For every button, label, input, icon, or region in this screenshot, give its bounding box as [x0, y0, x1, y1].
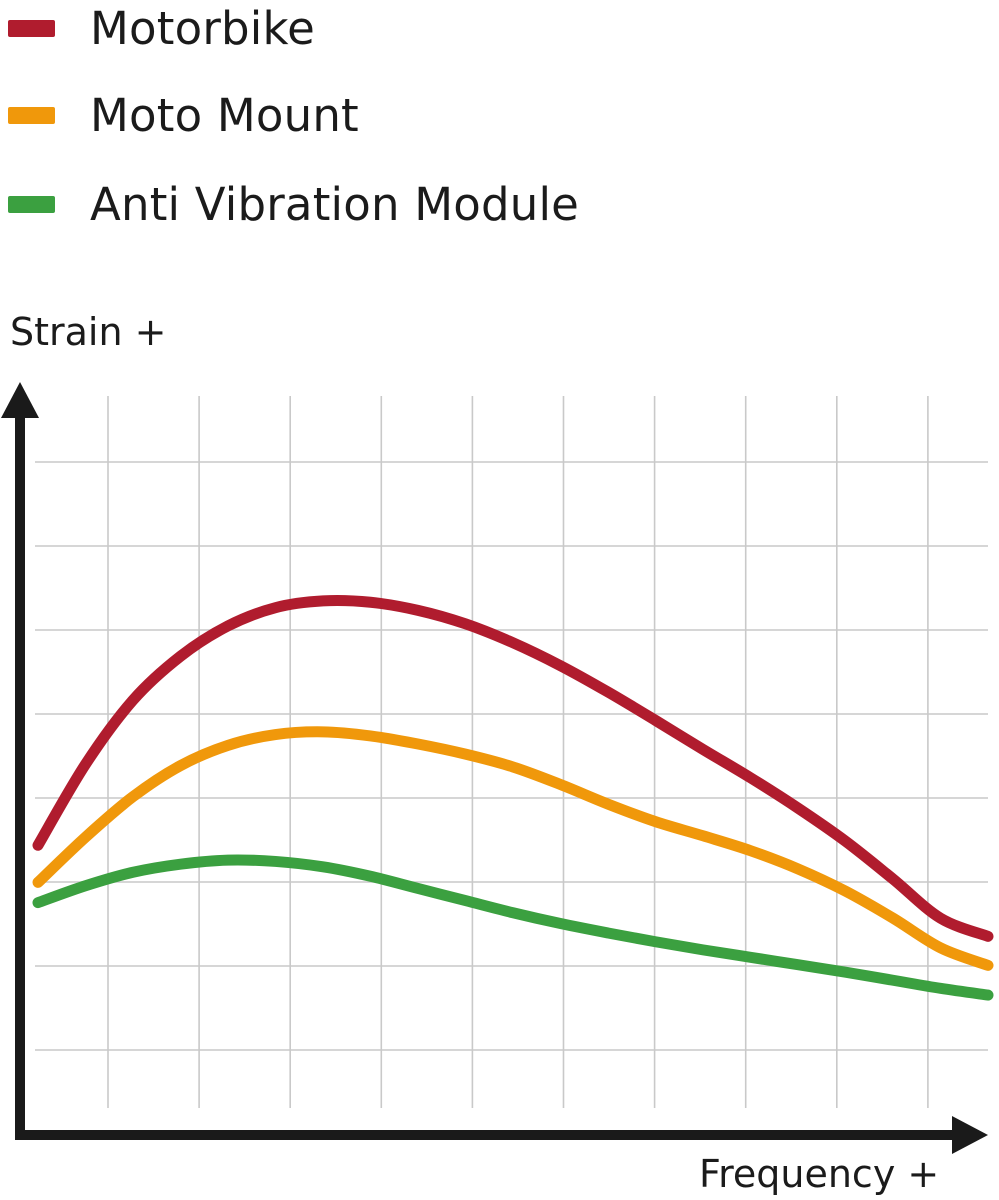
chart-canvas: Motorbike Moto Mount Anti Vibration Modu… [0, 0, 999, 1200]
x-axis-label: Frequency + [699, 1155, 939, 1193]
legend-label-moto-mount: Moto Mount [90, 93, 359, 138]
y-axis-label: Strain + [10, 313, 167, 351]
legend-label-motorbike: Motorbike [90, 6, 315, 51]
legend-item-motorbike[interactable]: Motorbike [8, 0, 315, 56]
line-chart-svg [0, 370, 999, 1160]
legend-label-anti-vibration-module: Anti Vibration Module [90, 182, 579, 227]
series-line-moto-mount [38, 732, 988, 966]
x-axis-arrowhead-icon [952, 1116, 988, 1154]
legend-swatch-motorbike [8, 20, 55, 37]
grid-lines [35, 396, 988, 1108]
legend-swatch-moto-mount [8, 107, 55, 124]
plot-area [0, 370, 999, 1160]
legend-item-anti-vibration-module[interactable]: Anti Vibration Module [8, 176, 579, 232]
axis-lines [1, 382, 988, 1154]
legend-item-moto-mount[interactable]: Moto Mount [8, 87, 359, 143]
series-line-anti-vibration-module [38, 860, 988, 995]
legend-swatch-anti-vibration-module [8, 196, 55, 213]
y-axis-arrowhead-icon [1, 382, 39, 418]
